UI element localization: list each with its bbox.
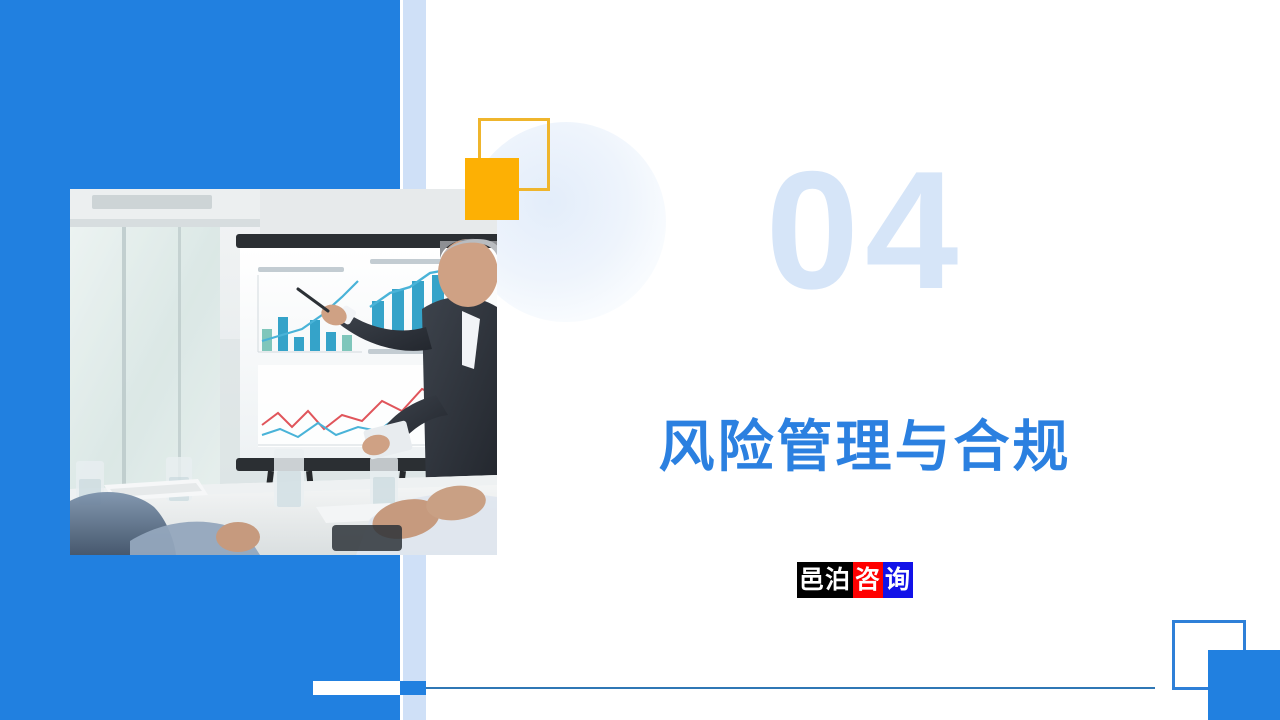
- section-number: 04: [660, 146, 1070, 314]
- slide-title: 风险管理与合规: [600, 415, 1130, 479]
- bottom-horizontal-rule: [426, 687, 1155, 689]
- brand-logo: 邑泊 咨 询: [797, 562, 913, 598]
- presentation-photo: [70, 189, 497, 555]
- orange-filled-square-decoration: [465, 158, 519, 220]
- logo-text-primary: 邑泊: [797, 562, 853, 598]
- presentation-slide: 04 风险管理与合规 邑泊 咨 询: [0, 0, 1280, 720]
- bottom-white-bar-decoration: [313, 681, 401, 695]
- logo-text-accent-red: 咨: [853, 562, 883, 598]
- bottom-blue-block-decoration: [400, 681, 426, 695]
- logo-text-accent-blue: 询: [883, 562, 913, 598]
- blue-filled-square-decoration: [1208, 650, 1280, 720]
- photo-illustration: [70, 189, 497, 555]
